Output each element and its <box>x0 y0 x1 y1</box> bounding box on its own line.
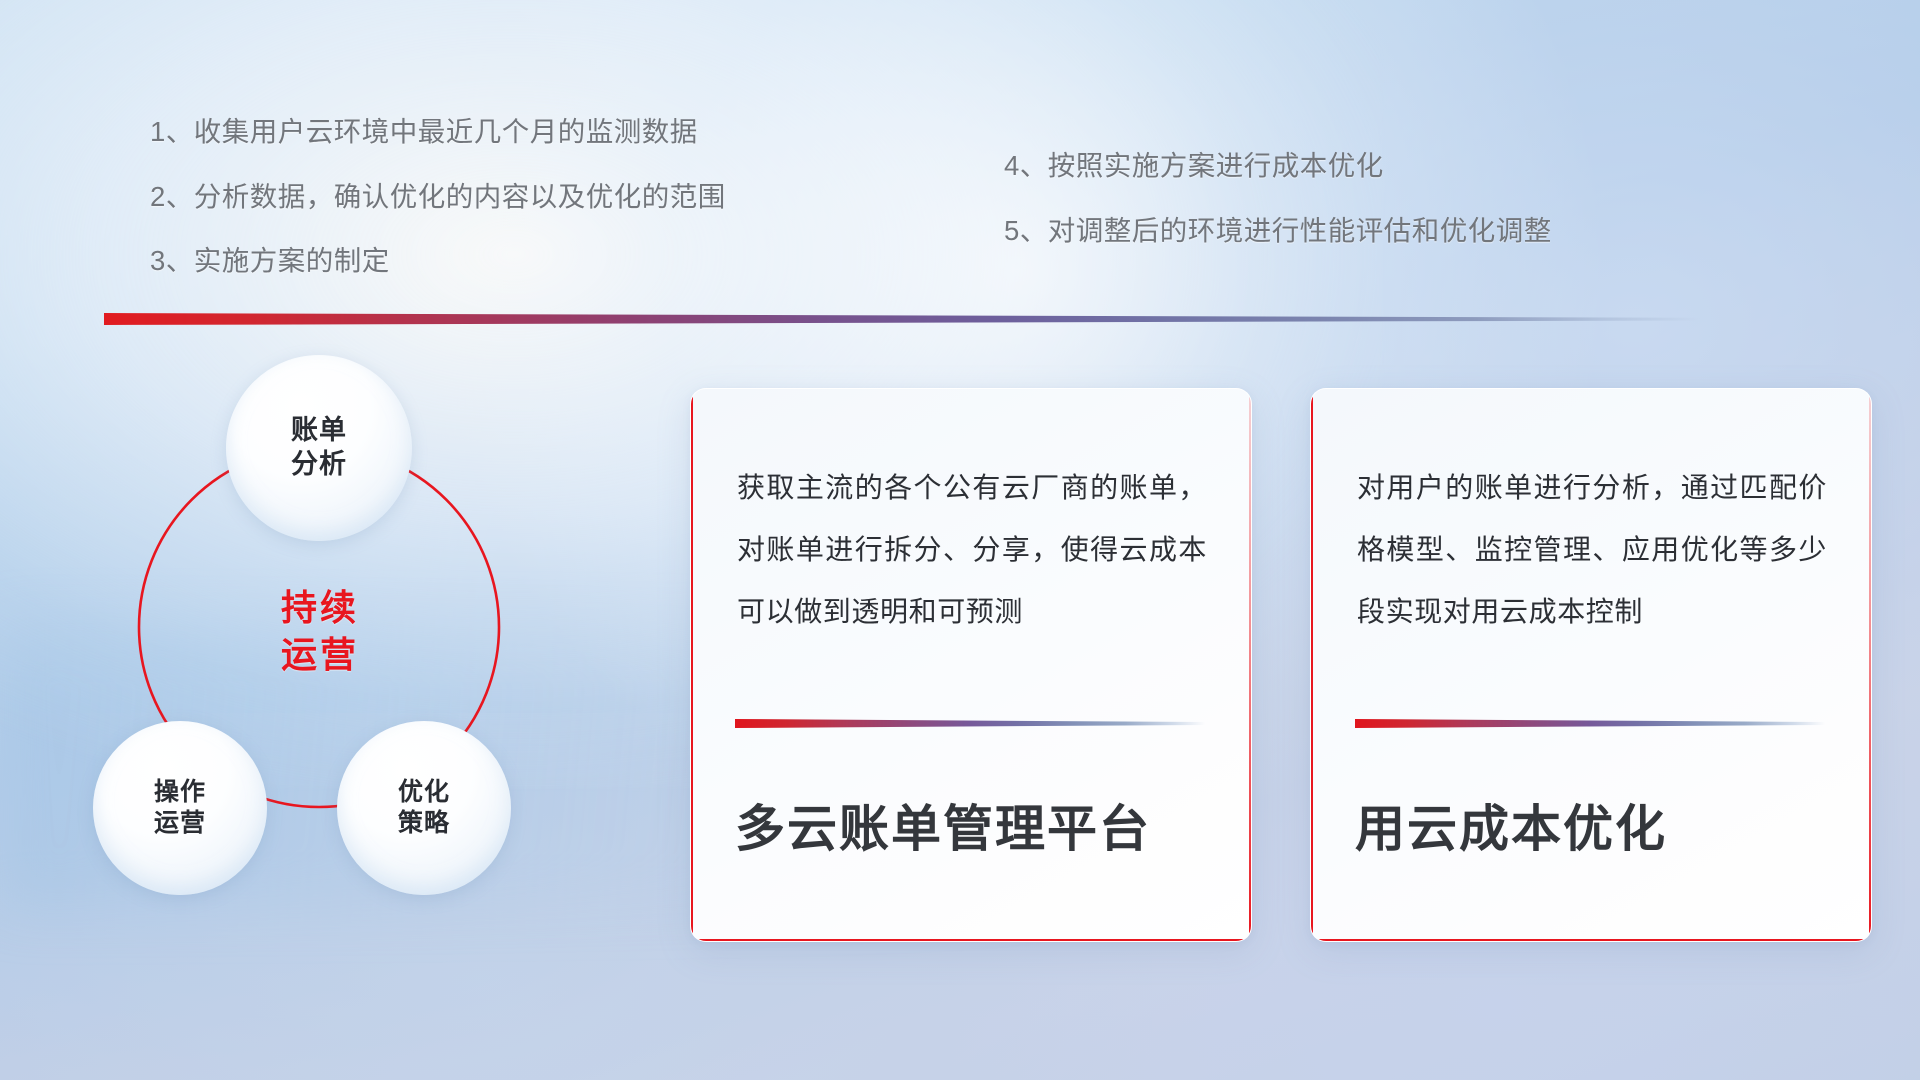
card-bottom-accent-bar <box>690 939 1252 942</box>
venn-center-line1: 持续 <box>235 585 405 632</box>
card-right-accent-bar <box>1249 388 1252 942</box>
card-bottom-accent-bar <box>1310 939 1872 942</box>
step-item: 5、对调整后的环境进行性能评估和优化调整 <box>1004 217 1552 245</box>
slide-canvas: 1、收集用户云环境中最近几个月的监测数据 2、分析数据，确认优化的内容以及优化的… <box>0 0 1920 1080</box>
step-item: 4、按照实施方案进行成本优化 <box>1004 152 1552 180</box>
card-left-accent-bar <box>690 388 693 942</box>
steps-list: 1、收集用户云环境中最近几个月的监测数据 2、分析数据，确认优化的内容以及优化的… <box>0 0 1920 300</box>
steps-right-column: 4、按照实施方案进行成本优化 5、对调整后的环境进行性能评估和优化调整 <box>1004 152 1552 281</box>
card-title-underline <box>735 719 1205 728</box>
venn-center-label: 持续 运营 <box>235 585 405 679</box>
venn-bubble-bill-analysis[interactable]: 账单 分析 <box>226 355 412 541</box>
step-item: 3、实施方案的制定 <box>150 247 726 275</box>
venn-bubble-label-line1: 优化 <box>398 777 450 808</box>
card-right-accent-bar <box>1869 388 1872 942</box>
steps-left-column: 1、收集用户云环境中最近几个月的监测数据 2、分析数据，确认优化的内容以及优化的… <box>150 118 726 312</box>
card-description: 获取主流的各个公有云厂商的账单，对账单进行拆分、分享，使得云成本可以做到透明和可… <box>737 457 1207 643</box>
venn-bubble-label-line1: 操作 <box>154 777 206 808</box>
card-title-underline <box>1355 719 1825 728</box>
venn-bubble-label-line2: 分析 <box>291 448 347 482</box>
card-left-accent-bar <box>1310 388 1313 942</box>
venn-center-line2: 运营 <box>235 632 405 679</box>
card-title: 用云成本优化 <box>1355 789 1831 861</box>
venn-bubble-label-line2: 策略 <box>398 808 450 839</box>
card-multicloud-billing-platform[interactable]: 获取主流的各个公有云厂商的账单，对账单进行拆分、分享，使得云成本可以做到透明和可… <box>690 388 1252 942</box>
section-divider <box>104 313 1700 325</box>
card-cloud-cost-optimization[interactable]: 对用户的账单进行分析，通过匹配价格模型、监控管理、应用优化等多少段实现对用云成本… <box>1310 388 1872 942</box>
divider-gradient-bar <box>104 313 1700 325</box>
step-item: 1、收集用户云环境中最近几个月的监测数据 <box>150 118 726 146</box>
card-description: 对用户的账单进行分析，通过匹配价格模型、监控管理、应用优化等多少段实现对用云成本… <box>1357 457 1827 643</box>
venn-bubble-label-line2: 运营 <box>154 808 206 839</box>
continuous-operation-diagram: 账单 分析 操作 运营 优化 策略 持续 运营 <box>85 355 645 955</box>
venn-bubble-operations[interactable]: 操作 运营 <box>93 721 267 895</box>
card-title: 多云账单管理平台 <box>735 789 1211 861</box>
step-item: 2、分析数据，确认优化的内容以及优化的范围 <box>150 183 726 211</box>
venn-bubble-label-line1: 账单 <box>291 414 347 448</box>
venn-bubble-optimization-strategy[interactable]: 优化 策略 <box>337 721 511 895</box>
